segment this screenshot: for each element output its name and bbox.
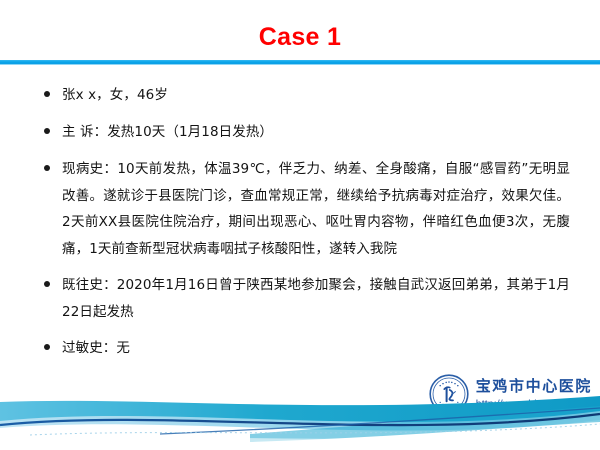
- list-item: 主 诉：发热10天（1月18日发热）: [40, 119, 570, 146]
- bullet-list: 张x x，女，46岁 主 诉：发热10天（1月18日发热） 现病史：10天前发热…: [40, 82, 570, 362]
- patient-identity-text: 张x x，女，46岁: [62, 82, 570, 109]
- list-item: 现病史：10天前发热，体温39℃，伴乏力、纳差、全身酸痛，自服“感冒药”无明显改…: [40, 156, 570, 262]
- chief-complaint-text: 主 诉：发热10天（1月18日发热）: [62, 119, 570, 146]
- list-item: 张x x，女，46岁: [40, 82, 570, 109]
- page-title: Case 1: [0, 22, 600, 52]
- bullet-dot-icon: [44, 165, 50, 171]
- bullet-dot-icon: [44, 91, 50, 97]
- title-divider-rule: [0, 60, 600, 65]
- list-item: 过敏史：无: [40, 335, 570, 362]
- past-history-text: 既往史：2020年1月16日曾于陕西某地参加聚会，接触自武汉返回弟弟，其弟于1月…: [62, 272, 570, 325]
- bullet-dot-icon: [44, 344, 50, 350]
- hospital-name: 宝鸡市中心医院: [476, 377, 592, 395]
- title-area: Case 1: [0, 22, 600, 52]
- slide-canvas: Case 1 张x x，女，46岁 主 诉：发热10天（1月18日发热） 现病史…: [0, 0, 600, 450]
- allergy-history-text: 过敏史：无: [62, 335, 570, 362]
- present-illness-text: 现病史：10天前发热，体温39℃，伴乏力、纳差、全身酸痛，自服“感冒药”无明显改…: [62, 156, 570, 262]
- bullet-dot-icon: [44, 128, 50, 134]
- wave-decoration: [0, 394, 600, 450]
- list-item: 既往史：2020年1月16日曾于陕西某地参加聚会，接触自武汉返回弟弟，其弟于1月…: [40, 272, 570, 325]
- bullet-dot-icon: [44, 281, 50, 287]
